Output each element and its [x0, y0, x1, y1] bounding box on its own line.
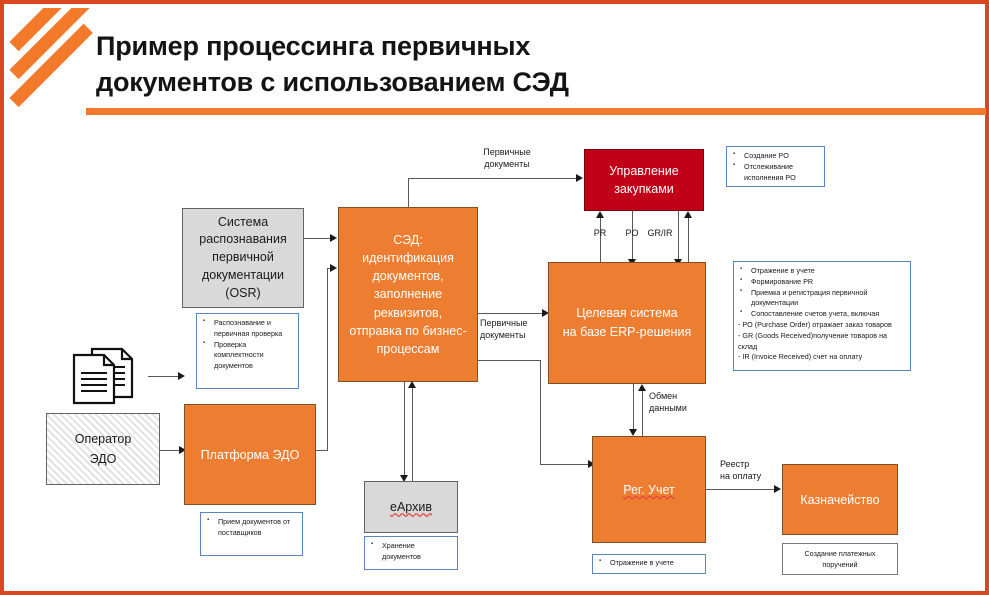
- treasury-label: Казначейство: [800, 493, 879, 507]
- edge-sed-proc-v: [408, 178, 409, 207]
- callout-erp-item-1: Формирование PR: [751, 277, 907, 288]
- edge-reg-erp-up: [642, 389, 643, 436]
- diagram-canvas: Документы, отправленные по эл.почте или …: [8, 123, 989, 595]
- arrow-reg-erp-up: [638, 384, 646, 391]
- label-data-exchange-l2: данными: [649, 403, 713, 415]
- node-treasury[interactable]: Казначейство: [782, 464, 898, 535]
- label-registry: Реестр на оплату: [720, 459, 790, 482]
- arrow-earchive-sed-up: [408, 381, 416, 388]
- sed-line-2: идентификация: [349, 249, 466, 267]
- label-primary-docs-top: Первичные документы: [460, 147, 554, 170]
- label-data-exchange: Обмен данными: [649, 391, 713, 414]
- callout-procurement: Создание PO Отслеживание исполнения PO: [726, 146, 825, 187]
- callout-osr: Распознавание и первичная проверка Прове…: [196, 313, 299, 389]
- osr-line-5: (OSR): [199, 285, 286, 303]
- sed-line-3: документов,: [349, 267, 466, 285]
- edge-sed-earchive-down: [404, 382, 405, 478]
- earchive-label: еАрхив: [390, 500, 432, 514]
- callout-erp-line-2: - IR (Invoice Received) счет на оплату: [738, 352, 907, 363]
- callout-earchive-item-0: Хранение документов: [382, 541, 454, 563]
- edge-erp-reg-down: [633, 384, 634, 431]
- edge-sed-reg-h1: [478, 360, 541, 361]
- edge-ir-up: [688, 216, 689, 266]
- sed-line-5: реквизитов,: [349, 304, 466, 322]
- sed-line-6: отправка по бизнес-: [349, 322, 466, 340]
- operator-line-2: ЭДО: [75, 449, 132, 469]
- erp-line-1: Целевая система: [563, 304, 691, 323]
- node-osr[interactable]: Система распознавания первичной документ…: [182, 208, 304, 308]
- sed-line-1: СЭД:: [349, 231, 466, 249]
- slide: Пример процессинга первичных документов …: [0, 0, 989, 595]
- edge-earchive-sed-up: [412, 386, 413, 482]
- node-erp[interactable]: Целевая система на базе ERP-решения: [548, 262, 706, 384]
- node-procurement[interactable]: Управление закупками: [584, 149, 704, 211]
- label-registry-l2: на оплату: [720, 471, 790, 483]
- procurement-line-1: Управление: [609, 162, 679, 180]
- osr-line-2: распознавания: [199, 231, 286, 249]
- arrow-osr-sed: [330, 234, 337, 242]
- callout-reg-item-0: Отражение в учете: [610, 558, 702, 569]
- callout-osr-item-1: Проверка комплектности документов: [214, 340, 295, 372]
- callout-proc-item-1: Отслеживание исполнения PO: [744, 162, 821, 184]
- label-registry-l1: Реестр: [720, 459, 790, 471]
- edge-sed-reg-v: [540, 360, 541, 465]
- arrow-pr: [596, 211, 604, 218]
- arrow-ir-up: [684, 211, 692, 218]
- edge-sed-reg-h2: [540, 464, 592, 465]
- callout-erp-item-2: Приемка и регистрация первичной документ…: [751, 288, 907, 310]
- node-platform-edo[interactable]: Платформа ЭДО: [184, 404, 316, 505]
- edge-sed-erp: [478, 313, 546, 314]
- edge-pr: [600, 216, 601, 266]
- arrow-platform-sed: [330, 264, 337, 272]
- callout-osr-item-0: Распознавание и первичная проверка: [214, 318, 295, 340]
- reg-account-label: Рег. Учет: [623, 483, 674, 497]
- arrow-erp-reg-down: [629, 429, 637, 436]
- callout-erp: Отражение в учете Формирование PR Приемк…: [733, 261, 911, 371]
- label-primary-docs-mid: Первичные документы: [480, 318, 550, 341]
- header-underline: [86, 108, 986, 115]
- node-reg-account[interactable]: Рег. Учет: [592, 436, 706, 543]
- callout-erp-line-1: - GR (Goods Received)получение товаров н…: [738, 331, 907, 353]
- callout-platform-item-0: Прием документов от поставщиков: [218, 517, 299, 539]
- osr-line-4: документации: [199, 267, 286, 285]
- label-primary-docs-top-l2: документы: [460, 159, 554, 171]
- sed-line-4: заполнение: [349, 285, 466, 303]
- page-title-line-1: Пример процессинга первичных: [96, 28, 956, 64]
- documents-icon: [68, 345, 148, 407]
- erp-line-2: на базе ERP-решения: [563, 323, 691, 342]
- edge-platform-sed-v: [327, 268, 328, 451]
- node-earchive[interactable]: еАрхив: [364, 481, 458, 533]
- edge-reg-treasury: [706, 489, 778, 490]
- node-operator-edo[interactable]: Оператор ЭДО: [46, 413, 160, 485]
- procurement-line-2: закупками: [609, 180, 679, 198]
- label-grir: GR/IR: [638, 228, 682, 240]
- osr-line-1: Система: [199, 214, 286, 232]
- callout-platform: Прием документов от поставщиков: [200, 512, 303, 556]
- callout-reg-account: Отражение в учете: [592, 554, 706, 574]
- arrow-reg-treasury: [774, 485, 781, 493]
- callout-earchive: Хранение документов: [364, 536, 458, 570]
- callout-erp-item-3: Сопоставление счетов учета, включая: [751, 309, 907, 320]
- arrow-sed-proc: [576, 174, 583, 182]
- sed-line-7: процессам: [349, 340, 466, 358]
- osr-line-3: первичной: [199, 249, 286, 267]
- callout-treasury-l2: поручений: [785, 560, 895, 571]
- edge-docs-osr: [148, 376, 182, 377]
- label-primary-docs-mid-l2: документы: [480, 330, 550, 342]
- page-title-line-2: документов с использованием СЭД: [96, 64, 956, 100]
- label-primary-docs-top-l1: Первичные: [460, 147, 554, 159]
- operator-line-1: Оператор: [75, 429, 132, 449]
- node-sed[interactable]: СЭД: идентификация документов, заполнени…: [338, 207, 478, 382]
- callout-proc-item-0: Создание PO: [744, 151, 821, 162]
- callout-treasury-l1: Создание платежных: [785, 549, 895, 560]
- slide-header: Пример процессинга первичных документов …: [8, 8, 989, 121]
- edge-sed-proc-h: [408, 178, 580, 179]
- callout-erp-item-0: Отражение в учете: [751, 266, 907, 277]
- label-primary-docs-mid-l1: Первичные: [480, 318, 550, 330]
- label-data-exchange-l1: Обмен: [649, 391, 713, 403]
- page-title: Пример процессинга первичных документов …: [96, 28, 956, 100]
- platform-label: Платформа ЭДО: [201, 448, 300, 462]
- callout-treasury: Создание платежных поручений: [782, 543, 898, 575]
- callout-erp-line-0: - PO (Purchase Order) отражает заказ тов…: [738, 320, 907, 331]
- arrow-docs-osr: [178, 372, 185, 380]
